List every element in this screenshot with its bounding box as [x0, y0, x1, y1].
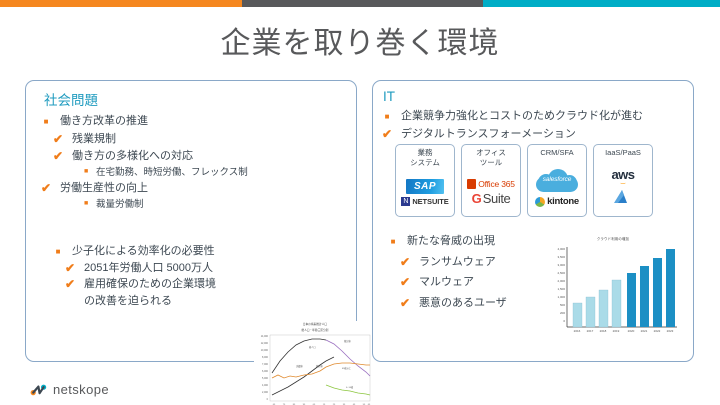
svg-text:1,000: 1,000 [557, 295, 565, 299]
bar-chart-plot: 4,000 3,500 3,000 2,500 2,000 1,500 1,00… [545, 241, 681, 341]
logo-box-office-tools: オフィスツール Office 365 G Suite [461, 144, 521, 217]
list-item-label: 少子化による効率化の必要性 [72, 245, 215, 257]
list-item: ✔ 雇用確保のための企業環境 [50, 276, 348, 293]
list-item-label: 雇用確保のための企業環境 [84, 278, 216, 290]
slide-title: 企業を取り巻く環境 [0, 18, 720, 62]
logo-box-crm-sfa: CRM/SFA salesforce kintone [527, 144, 587, 217]
svg-text:0: 0 [563, 319, 565, 323]
list-item-continuation: の改善を迫られる [50, 293, 348, 310]
svg-text:2,000: 2,000 [262, 391, 269, 394]
logo-box-caption: SAP 業務システム [410, 148, 440, 168]
list-item: ✔ 2051年労働人口 5000万人 [50, 260, 348, 277]
list-item-label: 労働生産性の向上 [60, 182, 148, 194]
threat-bullet-list: ■ 新たな脅威の出現 ✔ ランサムウェア ✔ マルウェア ✔ 悪意のあるユーザ [385, 233, 559, 312]
netskope-mark-icon [30, 384, 48, 396]
check-bullet-icon: ✔ [50, 131, 66, 147]
list-item-label: デジタルトランスフォーメーション [401, 128, 576, 140]
list-sub-item-label: 在宅勤務、時短労働、フレックス制 [96, 167, 248, 178]
svg-text:10,000: 10,000 [261, 349, 269, 352]
panel-social-heading: 社会問題 [44, 89, 356, 109]
check-bullet-icon: ✔ [397, 295, 413, 311]
office365-logo: Office 365 [467, 179, 515, 189]
gsuite-label: Suite [483, 192, 511, 205]
netsuite-mark-icon: N [401, 197, 410, 206]
gsuite-logo: G Suite [472, 192, 511, 205]
svg-text:3,000: 3,000 [557, 263, 565, 267]
list-item: ■ 少子化による効率化の必要性 [50, 243, 348, 260]
svg-text:2022: 2022 [654, 329, 661, 333]
svg-text:14,000: 14,000 [261, 335, 269, 338]
list-item: ✔ 働き方の多様化への対応 [38, 148, 356, 165]
aws-logo: aws ⌣ [611, 168, 634, 186]
small-square-bullet-icon: ■ [84, 199, 88, 210]
population-projection-chart: 日本の将来推計人口 総人口・年齢三区分別 14,000 12,000 10,00… [254, 321, 376, 405]
svg-text:2016: 2016 [574, 329, 581, 333]
list-item-label: ランサムウェア [419, 256, 496, 268]
square-bullet-icon: ■ [379, 108, 395, 125]
top-accent-bar [0, 0, 720, 7]
list-item-label: マルウェア [419, 276, 474, 288]
square-bullet-icon: ■ [38, 113, 54, 130]
svg-text:4,000: 4,000 [262, 384, 269, 387]
it-bullet-list: ■ 企業競争力強化とコストのためクラウド化が進む ✔ デジタルトランスフォーメー… [379, 108, 693, 142]
netskope-logo: netskope [30, 382, 109, 397]
list-sub-item: ■ 在宅勤務、時短労働、フレックス制 [38, 166, 356, 180]
netsuite-label: NETSUITE [412, 197, 448, 206]
small-square-bullet-icon: ■ [84, 167, 88, 178]
logo-box-caption: IaaS/PaaS [605, 148, 641, 158]
svg-text:2020: 2020 [628, 329, 635, 333]
list-item-label: 新たな脅威の出現 [407, 235, 495, 247]
logo-box-caption: オフィスツール [476, 148, 506, 168]
google-g-icon: G [472, 192, 482, 205]
svg-text:0: 0 [267, 398, 269, 401]
check-bullet-icon: ✔ [50, 148, 66, 164]
threat-growth-chart: クラウド利用の増加 4,000 3,500 3,000 2,500 2,000 … [545, 236, 681, 344]
list-item: ■ 新たな脅威の出現 [385, 233, 559, 250]
svg-text:4,000: 4,000 [557, 247, 565, 251]
logo-box-caption: CRM/SFA [540, 148, 573, 158]
social-lower-bullet-list: ■ 少子化による効率化の必要性 ✔ 2051年労働人口 5000万人 ✔ 雇用確… [50, 243, 348, 310]
threat-block: ■ 新たな脅威の出現 ✔ ランサムウェア ✔ マルウェア ✔ 悪意のあるユーザ [379, 233, 559, 313]
kintone-mark-icon [535, 197, 545, 207]
social-bullet-list: ■ 働き方改革の推進 ✔ 残業規制 ✔ 働き方の多様化への対応 ■ 在宅勤務、時… [38, 113, 356, 212]
accent-segment-orange [0, 0, 242, 7]
accent-segment-gray [242, 0, 483, 7]
netsuite-logo: N NETSUITE [401, 197, 448, 206]
check-bullet-icon: ✔ [397, 274, 413, 290]
svg-text:2019: 2019 [613, 329, 620, 333]
check-bullet-icon: ✔ [62, 276, 78, 292]
logo-box-logos: SAP N NETSUITE [396, 168, 454, 216]
office-window-icon [467, 179, 476, 189]
list-item: ■ 働き方改革の推進 [38, 113, 356, 130]
check-bullet-icon: ✔ [38, 180, 54, 196]
svg-text:3,500: 3,500 [557, 255, 565, 259]
list-item-label: 働き方の多様化への対応 [72, 150, 193, 162]
panel-social-issues: 社会問題 ■ 働き方改革の推進 ✔ 残業規制 ✔ 働き方の多様化への対応 ■ 在… [25, 80, 357, 362]
social-lower-block: ■ 少子化による効率化の必要性 ✔ 2051年労働人口 5000万人 ✔ 雇用確… [38, 243, 348, 310]
sap-logo: SAP [406, 179, 444, 194]
list-item-label: 企業競争力強化とコストのためクラウド化が進む [401, 110, 643, 122]
square-bullet-icon: ■ [385, 233, 401, 250]
check-bullet-icon: ✔ [397, 254, 413, 270]
list-item: ✔ ランサムウェア [385, 254, 559, 271]
svg-text:5,000: 5,000 [262, 377, 269, 380]
list-item: ✔ マルウェア [385, 274, 559, 291]
svg-text:2017: 2017 [587, 329, 594, 333]
svg-text:6,000: 6,000 [262, 370, 269, 373]
logo-box-business-system: SAP 業務システム SAP N NETSUITE [395, 144, 455, 217]
svg-text:500: 500 [560, 303, 565, 307]
svg-text:2021: 2021 [641, 329, 648, 333]
logo-box-logos: aws ⌣ [594, 158, 652, 216]
panel-it-heading: IT [383, 89, 693, 104]
svg-text:12,000: 12,000 [261, 342, 269, 345]
kintone-logo: kintone [535, 196, 579, 207]
list-item-label: 残業規制 [72, 133, 116, 145]
panel-it: IT ■ 企業競争力強化とコストのためクラウド化が進む ✔ デジタルトランスフォ… [372, 80, 694, 362]
svg-text:2023: 2023 [667, 329, 674, 333]
logo-box-logos: salesforce kintone [528, 158, 586, 216]
list-item: ✔ 悪意のあるユーザ [385, 295, 559, 312]
slide-canvas: 企業を取り巻く環境 社会問題 ■ 働き方改革の推進 ✔ 残業規制 ✔ 働き方の多… [0, 0, 720, 405]
square-bullet-icon: ■ [50, 243, 66, 260]
netskope-wordmark: netskope [53, 382, 109, 397]
azure-a-icon [613, 189, 633, 206]
population-chart-plot: 14,000 12,000 10,000 8,000 7,000 6,000 5… [254, 333, 376, 405]
list-item: ■ 企業競争力強化とコストのためクラウド化が進む [379, 108, 693, 125]
svg-text:2,500: 2,500 [557, 271, 565, 275]
list-item: ✔ 残業規制 [38, 131, 356, 148]
list-item-label: 悪意のあるユーザ [419, 297, 507, 309]
list-sub-item: ■ 裁量労働制 [38, 198, 356, 212]
list-item: ✔ デジタルトランスフォーメーション [379, 126, 693, 143]
svg-text:200: 200 [560, 311, 565, 315]
azure-logo [613, 189, 633, 206]
office365-label: Office 365 [478, 179, 515, 189]
svg-text:8,000: 8,000 [262, 356, 269, 359]
list-item-label: 働き方改革の推進 [60, 115, 148, 127]
svg-text:2018: 2018 [600, 329, 607, 333]
svg-text:7,000: 7,000 [262, 363, 269, 366]
check-bullet-icon: ✔ [379, 126, 395, 142]
list-item: ✔ 労働生産性の向上 [38, 180, 356, 197]
list-item-label: 2051年労働人口 5000万人 [84, 262, 213, 274]
check-bullet-icon: ✔ [62, 260, 78, 276]
svg-text:2,000: 2,000 [557, 279, 565, 283]
kintone-label: kintone [547, 196, 579, 207]
logo-box-iaas-paas: IaaS/PaaS aws ⌣ [593, 144, 653, 217]
list-sub-item-label: 裁量労働制 [96, 199, 144, 210]
logo-box-logos: Office 365 G Suite [462, 168, 520, 216]
salesforce-label: salesforce [534, 176, 580, 183]
salesforce-logo: salesforce [534, 167, 580, 193]
svg-text:1,500: 1,500 [557, 287, 565, 291]
cloud-category-boxes: SAP 業務システム SAP N NETSUITE オフィスツール [395, 144, 653, 217]
accent-segment-cyan [483, 0, 720, 7]
